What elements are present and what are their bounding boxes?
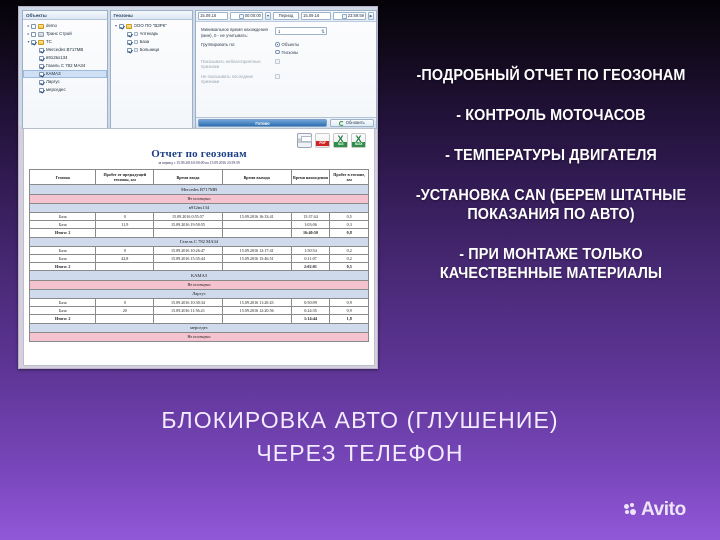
print-icon[interactable]: [297, 133, 312, 148]
report-empty-row: Не посещено: [30, 194, 369, 203]
report-cell: 15.09.2016 10:26:47: [154, 246, 223, 254]
object-tree-item[interactable]: КАМАЗ: [23, 70, 107, 78]
object-tree-item-label: ТС: [46, 38, 52, 46]
checkbox2-box[interactable]: [275, 74, 280, 79]
group-by-label: Группировать по:: [201, 42, 275, 48]
report-cell: 0:11:07: [291, 255, 330, 263]
report-group-row: мерседес: [30, 323, 369, 332]
report-cell: База: [30, 307, 96, 315]
date-from-input[interactable]: 15.09.16: [198, 12, 228, 20]
report-group-row: в912вх134: [30, 203, 369, 212]
report-total-cell: 1,8: [330, 315, 369, 323]
report-cell: 0: [96, 213, 154, 221]
report-no-visits-text: Не посещено: [30, 332, 369, 341]
report-column-header: Время выхода: [222, 170, 291, 185]
report-cell: 42,8: [96, 255, 154, 263]
min-stay-row: Минимальное время нахождения (мин), 0 - …: [201, 27, 371, 38]
object-tree-item-label: Газель С 782 МА34: [46, 62, 85, 70]
geozone-tree-item-label: Аптекарь: [140, 30, 159, 38]
report-cell: [222, 221, 291, 229]
report-group-row: КАМАЗ: [30, 271, 369, 280]
min-stay-label: Минимальное время нахождения (мин), 0 - …: [201, 27, 275, 38]
checkbox-icon[interactable]: [127, 48, 132, 53]
checkbox-icon[interactable]: [39, 64, 44, 69]
object-tree-item-label: в912вх134: [46, 54, 68, 62]
report-cell: База: [30, 213, 96, 221]
objects-tree[interactable]: ▸demo▸Транс Строй▾ТСMercedes B717МВв912в…: [23, 20, 107, 94]
group-by-row: Группировать по: Объекты Геозоны: [201, 42, 371, 55]
period-label: Период: [273, 12, 299, 20]
report-cell: 0:24:35: [291, 307, 330, 315]
checkbox-icon[interactable]: [39, 56, 44, 61]
report-column-header: Пробег в геозоне, км: [330, 170, 369, 185]
geozone-dot-icon: [134, 40, 138, 44]
report-cell: 1:50:54: [291, 246, 330, 254]
object-tree-item[interactable]: в912вх134: [23, 54, 107, 62]
object-tree-item[interactable]: Mercedes B717МВ: [23, 46, 107, 54]
report-cell: 0:50:09: [291, 299, 330, 307]
geozone-tree-item-label: ООО ПО "ВЗРК": [134, 22, 167, 30]
group-by-radios: Объекты Геозоны: [275, 42, 299, 55]
geozone-dot-icon: [134, 32, 138, 36]
object-tree-item-label: Mercedes B717МВ: [46, 46, 83, 54]
ready-button[interactable]: Готово: [198, 119, 327, 127]
report-cell: База: [30, 246, 96, 254]
refresh-button[interactable]: Обновить: [330, 119, 374, 127]
report-total-cell: Итого: 2: [30, 229, 96, 237]
objects-panel-title: Объекты: [23, 11, 107, 20]
report-column-header: Геозона: [30, 170, 96, 185]
object-tree-item[interactable]: Ларгус: [23, 78, 107, 86]
checkbox1-box[interactable]: [275, 59, 280, 64]
promo-bullet: - КОНТРОЛЬ МОТОЧАСОВ: [403, 106, 699, 125]
geozone-tree-item[interactable]: Аптекарь: [111, 30, 193, 38]
radio-geozones[interactable]: Геозоны: [275, 50, 299, 55]
checkbox-icon[interactable]: [31, 40, 36, 45]
report-cell: 15.09.2016 11:56:21: [154, 307, 223, 315]
report-empty-row: Не посещено: [30, 332, 369, 341]
folder-icon: [38, 32, 44, 37]
report-total-row: Итого: 22:02:010,5: [30, 263, 369, 271]
date-range-toolbar: 15.09.16 00:00:00 ▼ Период 15.09.16 23:5…: [196, 11, 376, 22]
report-total-row: Итого: 216:40:500,8: [30, 229, 369, 237]
promo-bullet: -ПОДРОБНЫЙ ОТЧЕТ ПО ГЕОЗОНАМ: [403, 66, 699, 85]
period-dropdown-icon[interactable]: ▼: [265, 12, 271, 20]
report-group-row: Газель С 782 МА34: [30, 237, 369, 246]
report-total-cell: Итого: 2: [30, 263, 96, 271]
report-cell: 15.09.2016 10:30:34: [154, 299, 223, 307]
radio-objects[interactable]: Объекты: [275, 42, 299, 47]
app-screenshot: Объекты ▸demo▸Транс Строй▾ТСMercedes B71…: [18, 6, 378, 369]
export-xls-icon[interactable]: XXLS: [333, 133, 348, 148]
report-total-cell: 2:02:01: [291, 263, 330, 271]
geozones-tree[interactable]: ▾ООО ПО "ВЗРК"АптекарьБазаБольница: [111, 20, 193, 54]
report-total-cell: [154, 229, 223, 237]
report-area: XXLS XXLSX Отчет по геозонам за период с…: [23, 128, 375, 366]
object-tree-item[interactable]: ▸demo: [23, 22, 107, 30]
report-cell: 15.09.2016 12:17:41: [222, 246, 291, 254]
report-header-row: ГеозонаПробег от предыдущей геозоны, кмВ…: [30, 170, 369, 185]
report-cell: 1:03:06: [291, 221, 330, 229]
expander-icon[interactable]: ▾: [114, 22, 119, 30]
checkbox-icon[interactable]: [39, 72, 44, 77]
geozone-tree-item[interactable]: База: [111, 38, 193, 46]
calendar-icon: [239, 14, 244, 19]
report-group-name: Mercedes B717МВ: [30, 185, 369, 194]
report-cell: 0,5: [330, 213, 369, 221]
promo-background: Объекты ▸demo▸Транс Строй▾ТСMercedes B71…: [0, 0, 720, 540]
report-no-visits-text: Не посещено: [30, 194, 369, 203]
geozone-tree-item-label: Больница: [140, 46, 160, 54]
geozone-dot-icon: [134, 48, 138, 52]
report-group-name: в912вх134: [30, 203, 369, 212]
report-total-cell: Итого: 2: [30, 315, 96, 323]
report-subtitle: за период с 15.09.2016 0:00:00 по 15.09.…: [24, 161, 374, 165]
export-pdf-icon[interactable]: [315, 133, 330, 148]
headline-line-2: ЧЕРЕЗ ТЕЛЕФОН: [0, 437, 720, 470]
report-cell: 0,2: [330, 246, 369, 254]
report-total-cell: [154, 263, 223, 271]
toolbar-overflow-icon[interactable]: ▶: [368, 12, 374, 20]
radio-objects-label: Объекты: [282, 42, 300, 47]
avito-wordmark: Avito: [641, 500, 686, 519]
geozone-tree-item[interactable]: Больница: [111, 46, 193, 54]
object-tree-item-label: demo: [46, 22, 57, 30]
report-group-name: КАМАЗ: [30, 271, 369, 280]
folder-icon: [126, 24, 132, 29]
promo-bullet-list: -ПОДРОБНЫЙ ОТЧЕТ ПО ГЕОЗОНАМ- КОНТРОЛЬ М…: [392, 66, 710, 283]
geozones-panel: Геозоны ▾ООО ПО "ВЗРК"АптекарьБазаБольни…: [110, 10, 194, 129]
report-total-cell: [96, 263, 154, 271]
avito-watermark: Avito: [624, 500, 686, 519]
checkbox2-label: Не показывать последние признаки: [201, 74, 275, 85]
report-column-header: Время входа: [154, 170, 223, 185]
promo-headline: БЛОКИРОВКА АВТО (ГЛУШЕНИЕ) ЧЕРЕЗ ТЕЛЕФОН: [0, 404, 720, 470]
export-toolbar: XXLS XXLSX: [24, 129, 374, 150]
report-cell: 15.09.2016 12:20:56: [222, 307, 291, 315]
time-from-input[interactable]: 00:00:00: [230, 12, 263, 20]
filter-body: Минимальное время нахождения (мин), 0 - …: [196, 22, 376, 85]
checkbox-icon[interactable]: [39, 80, 44, 85]
refresh-button-label: Обновить: [346, 119, 365, 127]
report-total-cell: [222, 229, 291, 237]
report-data-row: База015.09.2016 10:26:4715.09.2016 12:17…: [30, 246, 369, 254]
checkbox-icon[interactable]: [31, 24, 36, 29]
report-group-row: Ларгус: [30, 289, 369, 298]
report-column-header: Время нахождения: [291, 170, 330, 185]
report-table-head: ГеозонаПробег от предыдущей геозоны, кмВ…: [30, 170, 369, 185]
checkbox-icon[interactable]: [39, 48, 44, 53]
promo-bullet: -УСТАНОВКА CAN (БЕРЕМ ШТАТНЫЕ ПОКАЗАНИЯ …: [403, 186, 699, 224]
report-total-cell: 16:40:50: [291, 229, 330, 237]
geozone-report-table: ГеозонаПробег от предыдущей геозоны, кмВ…: [29, 169, 369, 342]
report-cell: 0,9: [330, 307, 369, 315]
report-cell: 15.09.2016 15:35:44: [154, 255, 223, 263]
report-data-row: База015.09.2016 0:55:5715.09.2016 16:33:…: [30, 213, 369, 221]
checkbox-icon[interactable]: [39, 88, 44, 93]
promo-bullet: - ПРИ МОНТАЖЕ ТОЛЬКО КАЧЕСТВЕННЫЕ МАТЕРИ…: [403, 245, 699, 283]
time-to-input[interactable]: 23:59:59: [333, 12, 366, 20]
report-cell: База: [30, 299, 96, 307]
report-data-row: База015.09.2016 10:30:3415.09.2016 11:20…: [30, 299, 369, 307]
report-no-visits-text: Не посещено: [30, 280, 369, 289]
radio-geozones-icon: [275, 50, 280, 55]
date-to-input[interactable]: 15.09.16: [301, 12, 331, 20]
report-data-row: База11,915.09.2016 19:50:551:03:060,3: [30, 221, 369, 229]
folder-icon: [38, 24, 44, 29]
filter-button-bar: Готово Обновить: [196, 117, 376, 128]
geozones-panel-title: Геозоны: [111, 11, 193, 20]
object-tree-item[interactable]: ▾ТС: [23, 38, 107, 46]
filter-panel: 15.09.16 00:00:00 ▼ Период 15.09.16 23:5…: [195, 10, 377, 129]
report-data-row: База2015.09.2016 11:56:2115.09.2016 12:2…: [30, 307, 369, 315]
headline-line-1: БЛОКИРОВКА АВТО (ГЛУШЕНИЕ): [0, 404, 720, 437]
report-cell: 20: [96, 307, 154, 315]
report-cell: 11,9: [96, 221, 154, 229]
report-cell: 0,3: [330, 221, 369, 229]
checkbox-row-1[interactable]: Показывать неблагоприятные признаки: [201, 59, 371, 70]
refresh-icon: [339, 121, 344, 126]
promo-bullet: - ТЕМПЕРАТУРЫ ДВИГАТЕЛЯ: [403, 146, 699, 165]
report-total-cell: [96, 315, 154, 323]
report-cell: 0,9: [330, 299, 369, 307]
object-tree-item[interactable]: Газель С 782 МА34: [23, 62, 107, 70]
min-stay-input[interactable]: 1: [275, 27, 327, 35]
report-cell: 15.09.2016 11:20:43: [222, 299, 291, 307]
radio-objects-icon: [275, 42, 280, 47]
report-empty-row: Не посещено: [30, 280, 369, 289]
checkbox-icon[interactable]: [127, 40, 132, 45]
folder-icon: [38, 40, 44, 45]
report-total-cell: [96, 229, 154, 237]
object-tree-item[interactable]: ▸Транс Строй: [23, 30, 107, 38]
report-table-body: Mercedes B717МВНе посещенов912вх134База0…: [30, 185, 369, 342]
report-cell: 15:37:44: [291, 213, 330, 221]
checkbox-icon[interactable]: [119, 24, 124, 29]
time-from-value: 00:00:00: [245, 12, 261, 20]
report-cell: База: [30, 221, 96, 229]
radio-geozones-label: Геозоны: [282, 50, 299, 55]
xlsx-tag: XLSX: [352, 142, 365, 147]
report-data-row: База42,815.09.2016 15:35:4415.09.2016 15…: [30, 255, 369, 263]
object-tree-item-label: Ларгус: [46, 78, 60, 86]
report-title: Отчет по геозонам: [24, 148, 374, 160]
report-total-row: Итого: 21:14:441,8: [30, 315, 369, 323]
object-tree-item-label: КАМАЗ: [46, 70, 61, 78]
report-cell: 15.09.2016 16:33:41: [222, 213, 291, 221]
geozone-tree-item-label: База: [140, 38, 150, 46]
objects-panel: Объекты ▸demo▸Транс Строй▾ТСMercedes B71…: [22, 10, 108, 129]
avito-dots-icon: [624, 503, 637, 516]
report-cell: 0,2: [330, 255, 369, 263]
report-cell: База: [30, 255, 96, 263]
report-total-cell: [222, 315, 291, 323]
report-cell: 15.09.2016 15:46:51: [222, 255, 291, 263]
calendar-icon-2: [342, 14, 347, 19]
report-column-header: Пробег от предыдущей геозоны, км: [96, 170, 154, 185]
report-total-cell: 1:14:44: [291, 315, 330, 323]
report-total-cell: 0,5: [330, 263, 369, 271]
checkbox-icon[interactable]: [127, 32, 132, 37]
object-tree-item-label: мерседес: [46, 86, 66, 94]
xls-tag: XLS: [334, 142, 347, 147]
report-group-row: Mercedes B717МВ: [30, 185, 369, 194]
report-cell: 0: [96, 246, 154, 254]
report-total-cell: 0,8: [330, 229, 369, 237]
report-cell: 15.09.2016 19:50:55: [154, 221, 223, 229]
object-tree-item-label: Транс Строй: [46, 30, 72, 38]
time-to-value: 23:59:59: [348, 12, 364, 20]
geozone-tree-item[interactable]: ▾ООО ПО "ВЗРК": [111, 22, 193, 30]
export-xlsx-icon[interactable]: XXLSX: [351, 133, 366, 148]
report-group-name: Ларгус: [30, 289, 369, 298]
checkbox-row-2[interactable]: Не показывать последние признаки: [201, 74, 371, 85]
report-total-cell: [154, 315, 223, 323]
report-cell: 15.09.2016 0:55:57: [154, 213, 223, 221]
app-top-section: Объекты ▸demo▸Транс Строй▾ТСMercedes B71…: [19, 7, 378, 126]
report-group-name: Газель С 782 МА34: [30, 237, 369, 246]
report-total-cell: [222, 263, 291, 271]
report-cell: 0: [96, 299, 154, 307]
checkbox-icon[interactable]: [31, 32, 36, 37]
object-tree-item[interactable]: мерседес: [23, 86, 107, 94]
checkbox1-label: Показывать неблагоприятные признаки: [201, 59, 275, 70]
report-group-name: мерседес: [30, 323, 369, 332]
